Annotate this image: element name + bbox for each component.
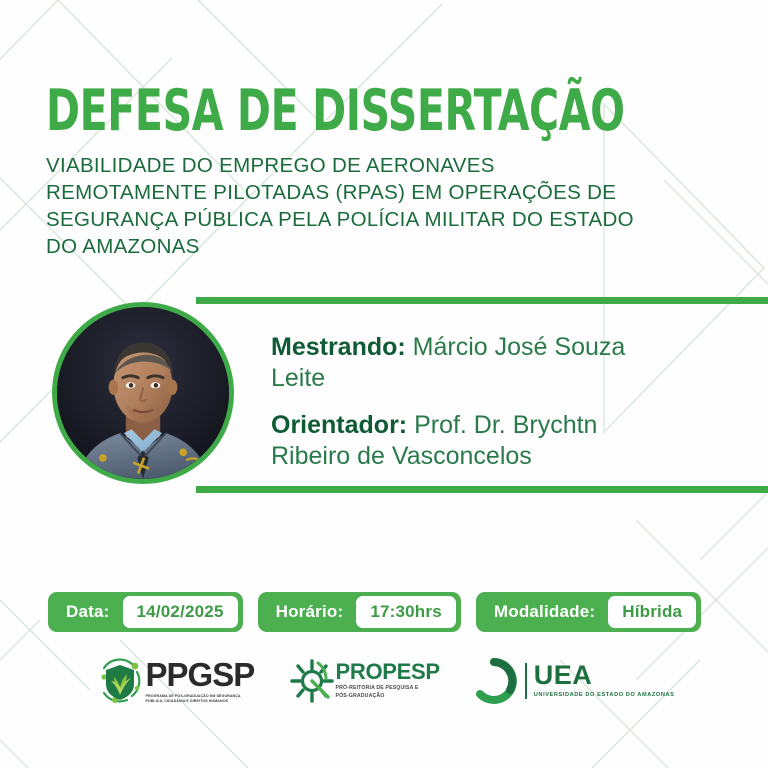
propesp-wordmark: PROPESP — [336, 661, 440, 683]
uea-text: UEA UNIVERSIDADE DO ESTADO DO AMAZONAS — [534, 662, 675, 700]
mestrando-line: Mestrando: Márcio José Souza Leite — [271, 332, 681, 394]
orientador-label: Orientador: — [271, 411, 407, 439]
modalidade-value: Híbrida — [608, 596, 696, 628]
ppgsp-tagline: PROGRAMA DE PÓS-GRADUAÇÃO EM SEGURANÇA P… — [146, 694, 258, 704]
logo-ppgsp: PPGSP PROGRAMA DE PÓS-GRADUAÇÃO EM SEGUR… — [94, 655, 258, 707]
uea-wordmark: UEA — [534, 662, 675, 689]
horario-label: Horário: — [258, 602, 357, 622]
uea-divider — [525, 663, 527, 699]
logo-propesp: PROPESP PRÓ-REITORIA DE PESQUISA E PÓS-G… — [288, 657, 440, 705]
propesp-text: PROPESP PRÓ-REITORIA DE PESQUISA E PÓS-G… — [336, 661, 440, 701]
data-label: Data: — [48, 602, 123, 622]
info-pill-horario: Horário: 17:30hrs — [258, 592, 461, 632]
orientador-line: Orientador: Prof. Dr. Brychtn Ribeiro de… — [271, 410, 681, 472]
ppgsp-wordmark: PPGSP — [146, 658, 258, 691]
uea-circle-icon — [470, 657, 518, 705]
logo-uea: UEA UNIVERSIDADE DO ESTADO DO AMAZONAS — [470, 657, 675, 705]
horario-value: 17:30hrs — [356, 596, 456, 628]
title-block: DEFESA DE DISSERTAÇÃO VIABILIDADE DO EMP… — [46, 84, 686, 260]
poster-canvas: DEFESA DE DISSERTAÇÃO VIABILIDADE DO EMP… — [0, 0, 768, 768]
propesp-burst-icon — [288, 657, 336, 705]
officer-portrait — [57, 307, 229, 479]
speaker-info: Mestrando: Márcio José Souza Leite Orien… — [271, 332, 681, 472]
info-pill-modalidade: Modalidade: Híbrida — [476, 592, 701, 632]
info-pill-data: Data: 14/02/2025 — [48, 592, 243, 632]
divider-bottom — [196, 486, 768, 493]
logo-bar: PPGSP PROGRAMA DE PÓS-GRADUAÇÃO EM SEGUR… — [0, 655, 768, 707]
divider-top — [196, 297, 768, 304]
propesp-tagline: PRÓ-REITORIA DE PESQUISA E PÓS-GRADUAÇÃO — [336, 685, 431, 701]
modalidade-label: Modalidade: — [476, 602, 608, 622]
uea-tagline: UNIVERSIDADE DO ESTADO DO AMAZONAS — [534, 691, 675, 700]
page-title: DEFESA DE DISSERTAÇÃO — [46, 84, 558, 138]
info-bar: Data: 14/02/2025 Horário: 17:30hrs Modal… — [48, 592, 701, 632]
dissertation-subtitle: VIABILIDADE DO EMPREGO DE AERONAVES REMO… — [46, 152, 646, 260]
mestrando-label: Mestrando: — [271, 333, 406, 361]
avatar — [52, 302, 234, 484]
ppgsp-text: PPGSP PROGRAMA DE PÓS-GRADUAÇÃO EM SEGUR… — [146, 658, 258, 704]
ppgsp-shield-icon — [94, 655, 146, 707]
data-value: 14/02/2025 — [123, 596, 238, 628]
